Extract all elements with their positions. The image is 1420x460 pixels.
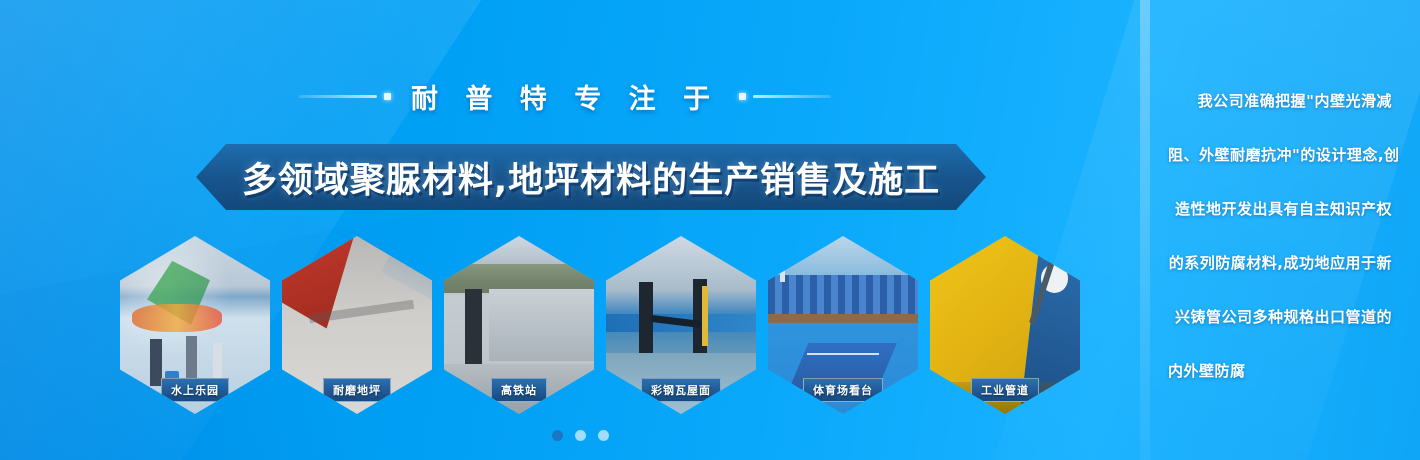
side-paragraph-line: 造性地开发出具有自主知识产权 [1168,182,1392,236]
gallery-item-high-speed-rail-station[interactable]: 高铁站 [444,236,594,414]
hexagon-gallery: 水上乐园 耐磨地坪 高铁站 彩钢瓦屋面 体育 [120,236,1080,414]
gallery-caption: 高铁站 [491,378,547,402]
side-paragraph: 我公司准确把握"内壁光滑减 阻、外壁耐磨抗冲"的设计理念,创 造性地开发出具有自… [1168,74,1392,398]
rule-bar-icon [753,95,831,98]
side-paragraph-line: 的系列防腐材料,成功地应用于新 [1168,236,1392,290]
side-paragraph-line: 阻、外壁耐磨抗冲"的设计理念,创 [1168,128,1392,182]
gallery-item-wear-resistant-floor[interactable]: 耐磨地坪 [282,236,432,414]
gallery-caption: 水上乐园 [161,378,229,402]
eyebrow-row: 耐 普 特 专 注 于 [0,78,1130,114]
carousel-dot-2[interactable] [575,430,586,441]
gallery-caption: 体育场看台 [803,378,883,402]
carousel-dots [0,424,1160,446]
gallery-caption: 工业管道 [971,378,1039,402]
carousel-dot-1[interactable] [552,430,563,441]
rule-dot-icon [739,93,746,100]
gallery-item-industrial-pipeline[interactable]: 工业管道 [930,236,1080,414]
headline-text: 多领域聚脲材料,地坪材料的生产销售及施工 [242,152,940,203]
carousel-dot-3[interactable] [598,430,609,441]
gallery-item-water-park[interactable]: 水上乐园 [120,236,270,414]
side-paragraph-line: 我公司准确把握"内壁光滑减 [1168,74,1392,128]
side-paragraph-line: 兴铸管公司多种规格出口管道的 [1168,290,1392,344]
eyebrow-rule-right [739,93,831,100]
gallery-caption: 彩钢瓦屋面 [641,378,721,402]
rule-bar-icon [299,95,377,98]
gallery-item-stadium-grandstand[interactable]: 体育场看台 [768,236,918,414]
promo-banner: 耐 普 特 专 注 于 多领域聚脲材料,地坪材料的生产销售及施工 水上乐园 耐磨… [0,0,1420,460]
gallery-item-color-steel-tile-roof[interactable]: 彩钢瓦屋面 [606,236,756,414]
headline-ribbon: 多领域聚脲材料,地坪材料的生产销售及施工 [196,144,986,210]
side-paragraph-line: 内外壁防腐 [1168,344,1392,398]
eyebrow-text: 耐 普 特 专 注 于 [405,77,725,116]
rule-dot-icon [384,93,391,100]
gallery-caption: 耐磨地坪 [323,378,391,402]
eyebrow-rule-left [299,93,391,100]
background-divider-glow [1140,0,1150,460]
